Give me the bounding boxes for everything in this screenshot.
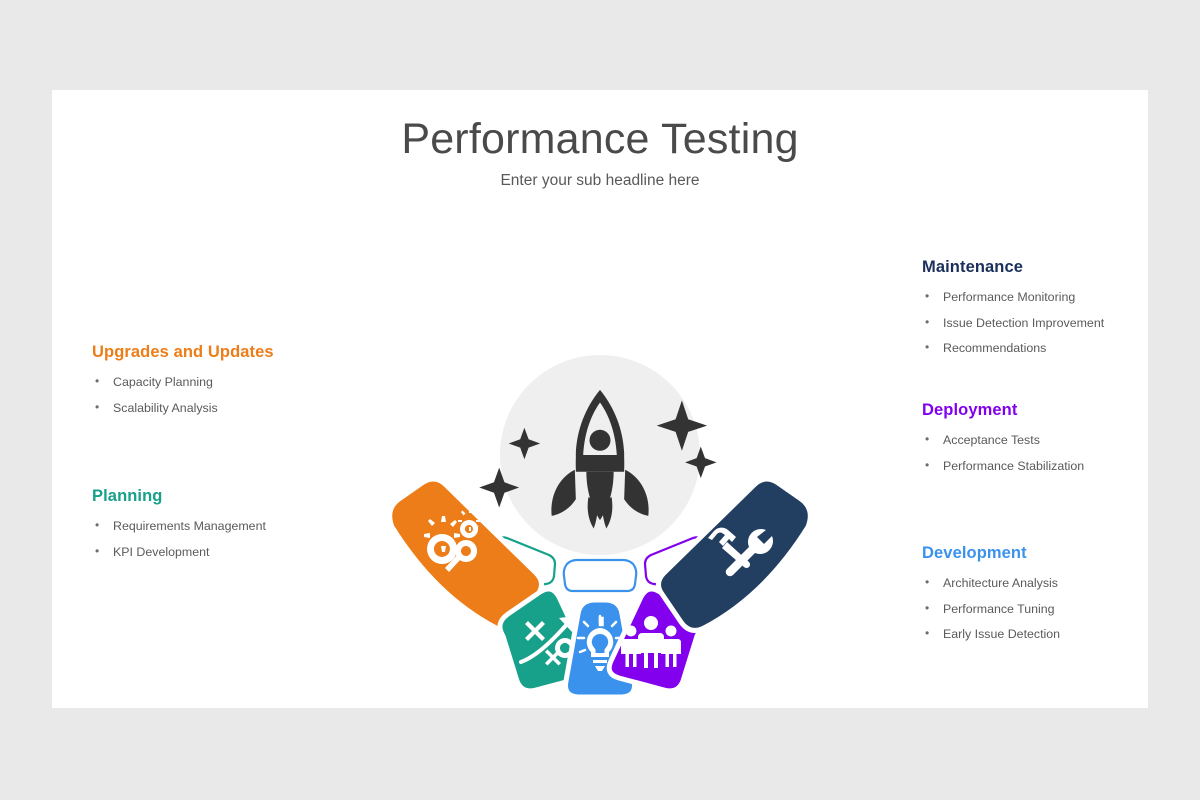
- text-block-development: Development Architecture Analysis Perfor…: [922, 544, 1200, 653]
- page-title: Performance Testing: [52, 115, 1148, 164]
- list-item: Issue Detection Improvement: [922, 316, 1200, 332]
- bullet-list-maintenance: Performance Monitoring Issue Detection I…: [922, 290, 1200, 357]
- bullet-list-development: Architecture Analysis Performance Tuning…: [922, 576, 1200, 643]
- inner-arc-development: [564, 560, 636, 591]
- block-heading-development: Development: [922, 544, 1200, 563]
- bullet-list-deployment: Acceptance Tests Performance Stabilizati…: [922, 433, 1200, 474]
- list-item: Early Issue Detection: [922, 627, 1200, 643]
- arc-diagram: [300, 240, 900, 710]
- slide-canvas: Performance Testing Enter your sub headl…: [52, 90, 1148, 708]
- text-block-maintenance: Maintenance Performance Monitoring Issue…: [922, 258, 1200, 367]
- page-subtitle: Enter your sub headline here: [52, 172, 1148, 190]
- list-item: Acceptance Tests: [922, 433, 1200, 449]
- list-item: Performance Tuning: [922, 602, 1200, 618]
- list-item: Performance Monitoring: [922, 290, 1200, 306]
- list-item: Performance Stabilization: [922, 459, 1200, 475]
- list-item: Architecture Analysis: [922, 576, 1200, 592]
- list-item: Recommendations: [922, 341, 1200, 357]
- text-block-deployment: Deployment Acceptance Tests Performance …: [922, 401, 1200, 484]
- block-heading-maintenance: Maintenance: [922, 258, 1200, 277]
- block-heading-deployment: Deployment: [922, 401, 1200, 420]
